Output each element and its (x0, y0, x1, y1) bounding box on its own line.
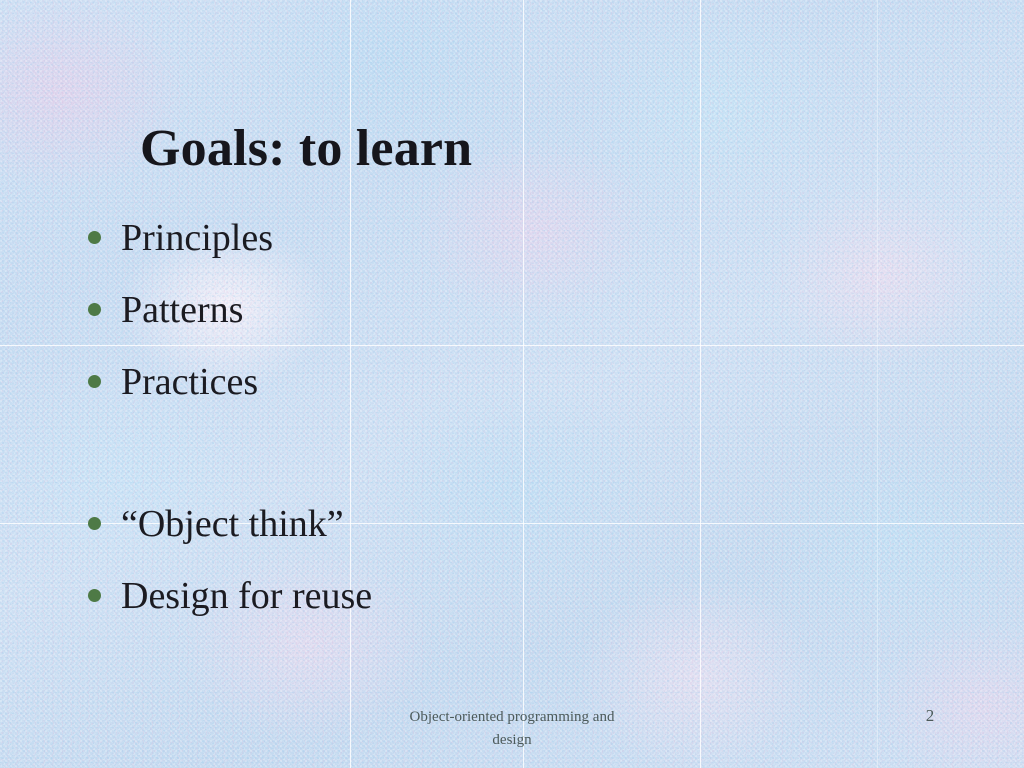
slide-canvas: Goals: to learn Principles Patterns Prac… (0, 0, 1024, 768)
bullet-dot-icon (88, 589, 101, 602)
bullet-label: Practices (121, 358, 258, 407)
slide-footer: Object-oriented programming and design (332, 706, 692, 753)
bullet-dot-icon (88, 375, 101, 388)
bullet-dot-icon (88, 231, 101, 244)
bullet-label: “Object think” (121, 500, 344, 549)
footer-line-2: design (332, 729, 692, 752)
list-item: Design for reuse (88, 572, 928, 622)
bullet-dot-icon (88, 303, 101, 316)
list-item: Practices (88, 358, 928, 408)
page-number: 2 (900, 706, 960, 726)
bullet-label: Patterns (121, 286, 243, 335)
list-item: Patterns (88, 286, 928, 336)
bullet-label: Principles (121, 214, 273, 263)
footer-line-1: Object-oriented programming and (332, 706, 692, 729)
bullet-list: Principles Patterns Practices “Object th… (88, 214, 928, 622)
list-item: “Object think” (88, 500, 928, 550)
list-item: Principles (88, 214, 928, 264)
bullet-label: Design for reuse (121, 572, 372, 621)
bullet-dot-icon (88, 517, 101, 530)
slide-title: Goals: to learn (140, 121, 472, 177)
